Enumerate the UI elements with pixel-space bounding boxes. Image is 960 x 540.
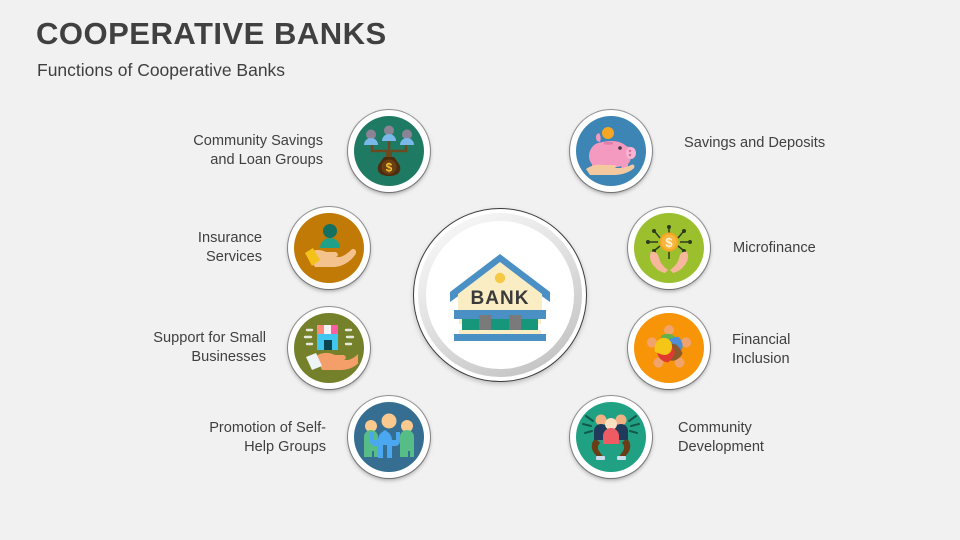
three-people-group-icon	[361, 412, 417, 462]
label-line-2: Businesses	[110, 348, 266, 367]
people-money-bag-icon: $	[361, 124, 417, 178]
hands-dollar-network-icon: $	[642, 222, 696, 274]
node-color-disc	[576, 402, 646, 472]
node-financial-inclusion[interactable]	[628, 307, 710, 389]
hands-holding-people-icon	[582, 410, 640, 464]
label-line-2: Inclusion	[732, 350, 902, 369]
svg-text:$: $	[665, 235, 673, 250]
page-subtitle: Functions of Cooperative Banks	[37, 60, 285, 81]
node-support-for-small-businesses[interactable]	[288, 307, 370, 389]
label-line-1: Financial	[732, 331, 902, 350]
label-line-1: Promotion of Self-	[160, 419, 326, 438]
node-color-disc	[294, 313, 364, 383]
label-line-1: Insurance	[130, 229, 262, 248]
node-color-disc	[354, 402, 424, 472]
label-line-2: Development	[678, 438, 868, 457]
label-community-savings-and-loan-groups: Community Savings and Loan Groups	[130, 132, 323, 169]
piggy-bank-on-hand-icon	[582, 125, 640, 177]
page-title: COOPERATIVE BANKS	[36, 16, 387, 52]
node-color-disc	[634, 313, 704, 383]
node-community-savings-and-loan-groups[interactable]: $	[348, 110, 430, 192]
center-bank-node[interactable]: BANK	[413, 208, 587, 382]
label-financial-inclusion: Financial Inclusion	[732, 331, 902, 368]
node-promotion-of-self-help-groups[interactable]	[348, 396, 430, 478]
label-promotion-of-self-help-groups: Promotion of Self- Help Groups	[160, 419, 326, 456]
bank-building-icon: BANK	[446, 248, 554, 342]
slide-canvas: COOPERATIVE BANKS Functions of Cooperati…	[0, 0, 960, 540]
label-savings-and-deposits: Savings and Deposits	[684, 134, 904, 153]
hand-holding-shop-icon	[300, 321, 358, 375]
label-community-development: Community Development	[678, 419, 868, 456]
label-line-1: Community Savings	[130, 132, 323, 151]
node-microfinance[interactable]: $	[628, 207, 710, 289]
node-color-disc	[576, 116, 646, 186]
label-support-for-small-businesses: Support for Small Businesses	[110, 329, 266, 366]
svg-text:$: $	[386, 161, 393, 175]
label-line-2: and Loan Groups	[130, 151, 323, 170]
label-line-1: Community	[678, 419, 868, 438]
label-line-1: Microfinance	[733, 239, 913, 258]
label-microfinance: Microfinance	[733, 239, 913, 258]
node-savings-and-deposits[interactable]	[570, 110, 652, 192]
node-color-disc: $	[634, 213, 704, 283]
svg-text:BANK: BANK	[471, 288, 530, 309]
label-line-1: Savings and Deposits	[684, 134, 904, 153]
center-inner-disc: BANK	[426, 221, 574, 369]
label-line-1: Support for Small	[110, 329, 266, 348]
label-line-2: Services	[130, 248, 262, 267]
node-community-development[interactable]	[570, 396, 652, 478]
node-insurance-services[interactable]	[288, 207, 370, 289]
hand-holding-person-icon	[301, 222, 357, 274]
teamwork-circle-people-icon	[642, 322, 696, 374]
node-color-disc: $	[354, 116, 424, 186]
label-insurance-services: Insurance Services	[130, 229, 262, 266]
node-color-disc	[294, 213, 364, 283]
label-line-2: Help Groups	[160, 438, 326, 457]
